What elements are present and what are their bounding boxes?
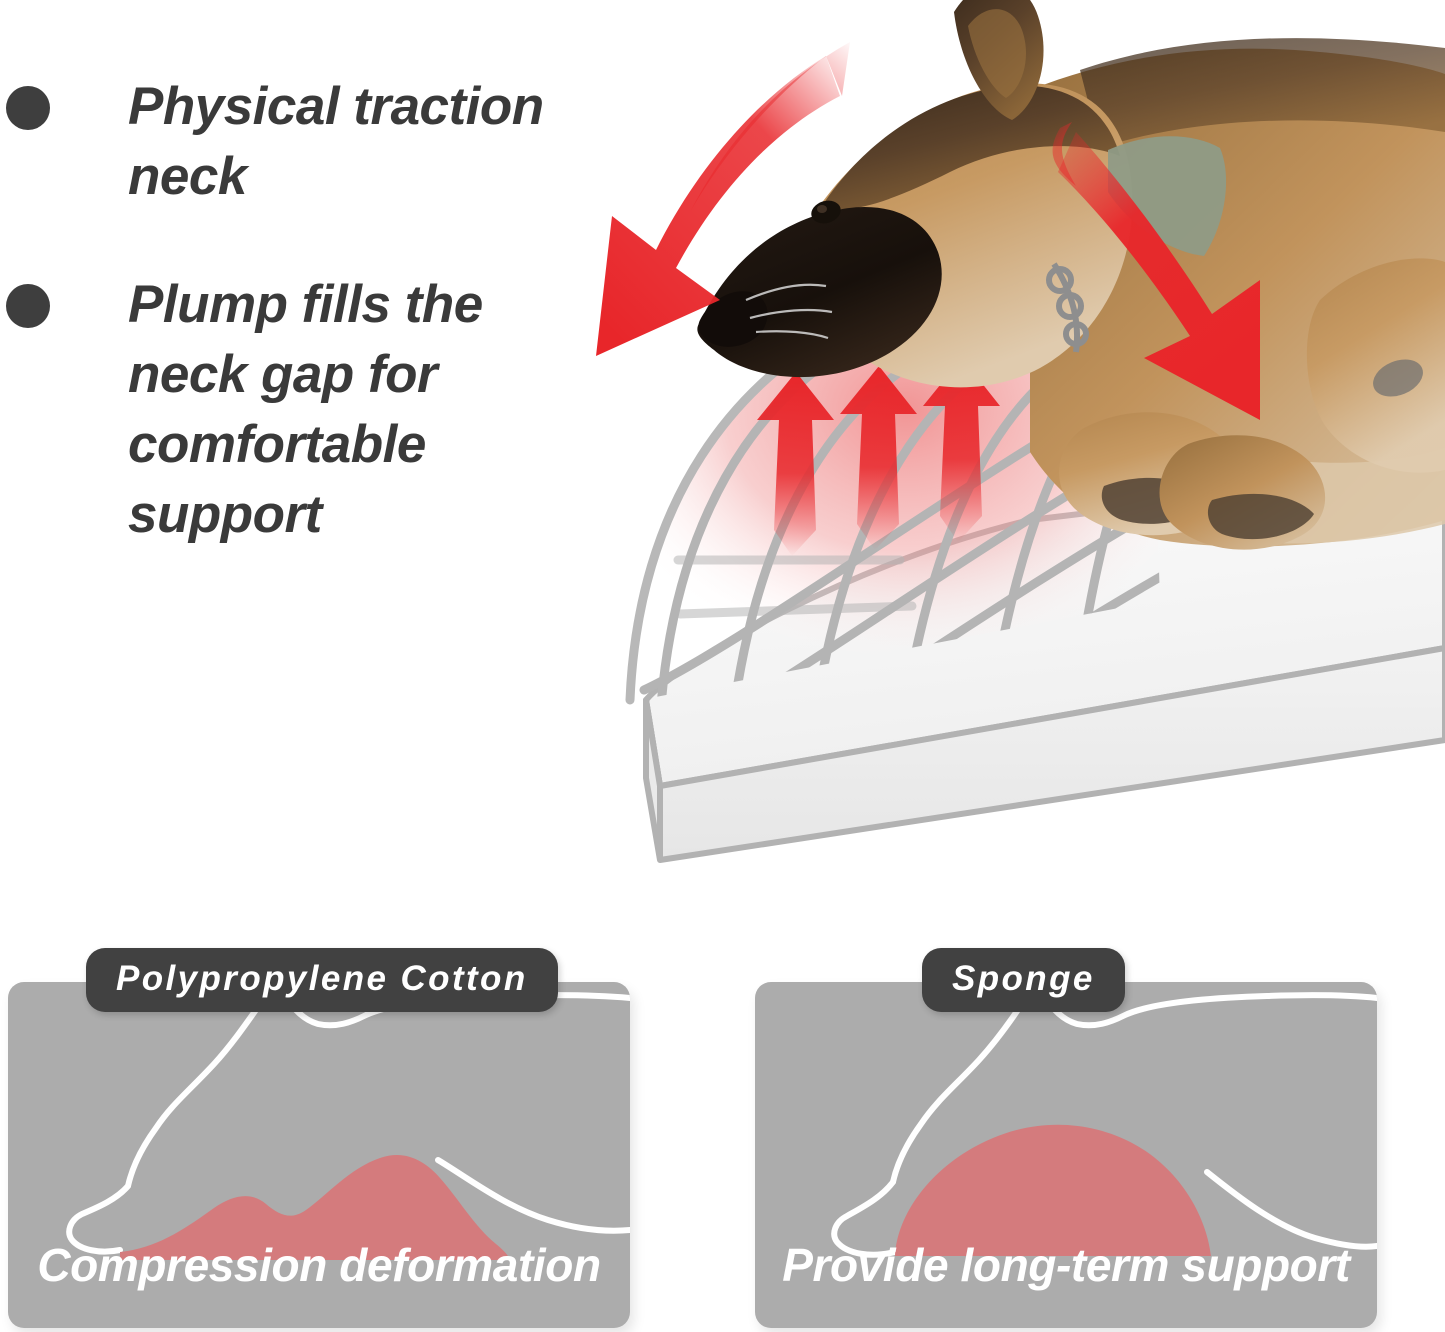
panel-caption-polypropylene: Compression deformation — [8, 1238, 630, 1292]
feature-bullet-list: Physical traction neck Plump fills the n… — [0, 72, 640, 608]
feature-item: Plump fills the neck gap for comfortable… — [0, 270, 640, 550]
bullet-dot-icon — [6, 284, 50, 328]
pillow-shape-dome — [895, 1125, 1211, 1256]
main-illustration — [560, 0, 1445, 900]
comparison-panel-sponge: Sponge Provide long-term support — [755, 982, 1377, 1328]
panel-caption-sponge: Provide long-term support — [755, 1238, 1377, 1292]
feature-text: Physical traction neck — [128, 72, 598, 212]
feature-text: Plump fills the neck gap for comfortable… — [128, 270, 598, 550]
support-arrows-group — [757, 358, 1000, 556]
panel-badge-sponge: Sponge — [922, 948, 1125, 1012]
comparison-panel-polypropylene: Polypropylene Cotton Compression deforma… — [8, 982, 630, 1328]
panel-badge-polypropylene: Polypropylene Cotton — [86, 948, 558, 1012]
bullet-dot-icon — [6, 86, 50, 130]
feature-item: Physical traction neck — [0, 72, 640, 212]
